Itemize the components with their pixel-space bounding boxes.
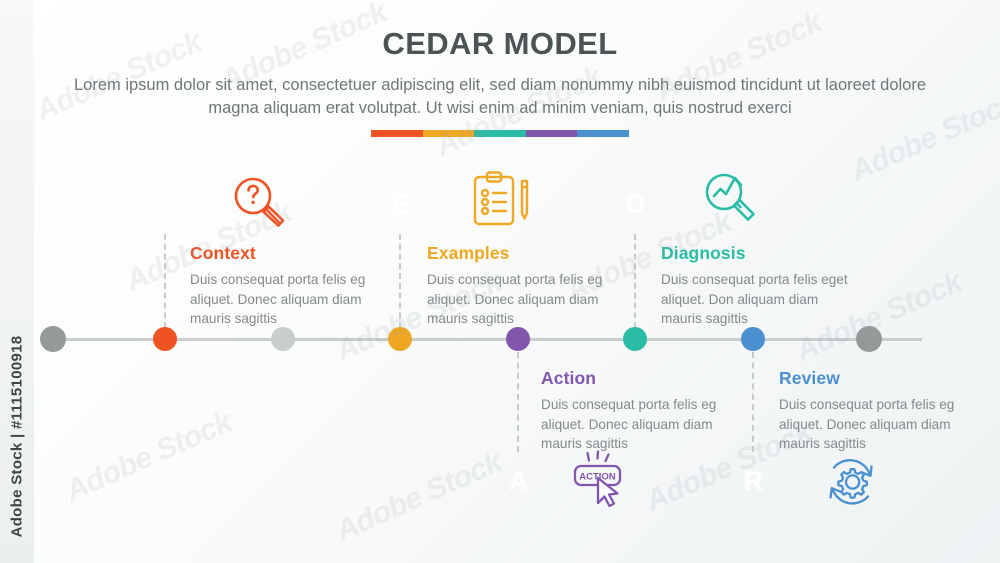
accent-bar-segment-3 xyxy=(526,130,578,137)
watermark-label-text: Adobe Stock | #1115100918 xyxy=(9,336,26,538)
node-circle-examples[interactable]: E xyxy=(371,175,430,234)
dot-spacer-1[interactable] xyxy=(271,327,295,351)
gear-refresh-icon xyxy=(820,452,882,517)
dot-examples[interactable] xyxy=(388,327,412,351)
node-circle-action[interactable]: A xyxy=(489,452,548,511)
action-button-cursor-icon: ACTION xyxy=(567,448,631,517)
connector-review xyxy=(752,352,754,452)
node-circle-context[interactable]: C xyxy=(136,175,195,234)
accent-bar-segment-4 xyxy=(577,130,629,137)
header: CEDAR MODEL Lorem ipsum dolor sit amet, … xyxy=(0,0,1000,121)
node-circle-diagnosis[interactable]: D xyxy=(606,175,665,234)
node-title-diagnosis: Diagnosis xyxy=(661,243,853,264)
node-letter-examples: E xyxy=(391,189,409,220)
node-text-diagnosis: Diagnosis Duis consequat porta felis ege… xyxy=(661,243,853,329)
accent-bar xyxy=(371,130,629,137)
timeline-start-cap xyxy=(40,326,66,352)
connector-examples xyxy=(399,234,401,328)
watermark-tile: Adobe Stock xyxy=(331,445,507,548)
node-circle-review[interactable]: R xyxy=(724,452,783,511)
node-text-action: Action Duis consequat porta felis eg ali… xyxy=(541,368,741,454)
node-title-examples: Examples xyxy=(427,243,627,264)
clipboard-checklist-pencil-icon xyxy=(466,168,532,239)
node-text-examples: Examples Duis consequat porta felis eg a… xyxy=(427,243,627,329)
dot-context[interactable] xyxy=(153,327,177,351)
dot-review[interactable] xyxy=(741,327,765,351)
timeline-axis xyxy=(48,338,922,341)
dot-action[interactable] xyxy=(506,327,530,351)
node-desc-diagnosis: Duis consequat porta felis eget aliquet.… xyxy=(661,270,853,329)
node-desc-review: Duis consequat porta felis eg aliquet. D… xyxy=(779,395,983,454)
page-title: CEDAR MODEL xyxy=(0,26,1000,62)
node-desc-action: Duis consequat porta felis eg aliquet. D… xyxy=(541,395,741,454)
connector-context xyxy=(164,234,166,328)
accent-bar-segment-1 xyxy=(423,130,475,137)
dot-diagnosis[interactable] xyxy=(623,327,647,351)
node-desc-examples: Duis consequat porta felis eg aliquet. D… xyxy=(427,270,627,329)
node-title-context: Context xyxy=(190,243,388,264)
node-title-review: Review xyxy=(779,368,983,389)
node-title-action: Action xyxy=(541,368,741,389)
question-magnifier-icon xyxy=(228,172,290,239)
node-letter-diagnosis: D xyxy=(626,189,646,220)
page-subtitle: Lorem ipsum dolor sit amet, consectetuer… xyxy=(60,74,940,121)
node-letter-context: C xyxy=(156,189,176,220)
accent-bar-segment-2 xyxy=(474,130,526,137)
node-text-context: Context Duis consequat porta felis eg al… xyxy=(190,243,388,329)
connector-diagnosis xyxy=(634,234,636,328)
connector-action xyxy=(517,352,519,452)
node-letter-action: A xyxy=(509,466,529,497)
node-text-review: Review Duis consequat porta felis eg ali… xyxy=(779,368,983,454)
watermark-tile: Adobe Stock xyxy=(61,405,237,508)
accent-bar-segment-0 xyxy=(371,130,423,137)
timeline-end-cap xyxy=(856,326,882,352)
node-desc-context: Duis consequat porta felis eg aliquet. D… xyxy=(190,270,388,329)
watermark-label: Adobe Stock | #1115100918 xyxy=(0,0,34,563)
chart-magnifier-icon xyxy=(698,170,764,237)
node-letter-review: R xyxy=(744,466,764,497)
